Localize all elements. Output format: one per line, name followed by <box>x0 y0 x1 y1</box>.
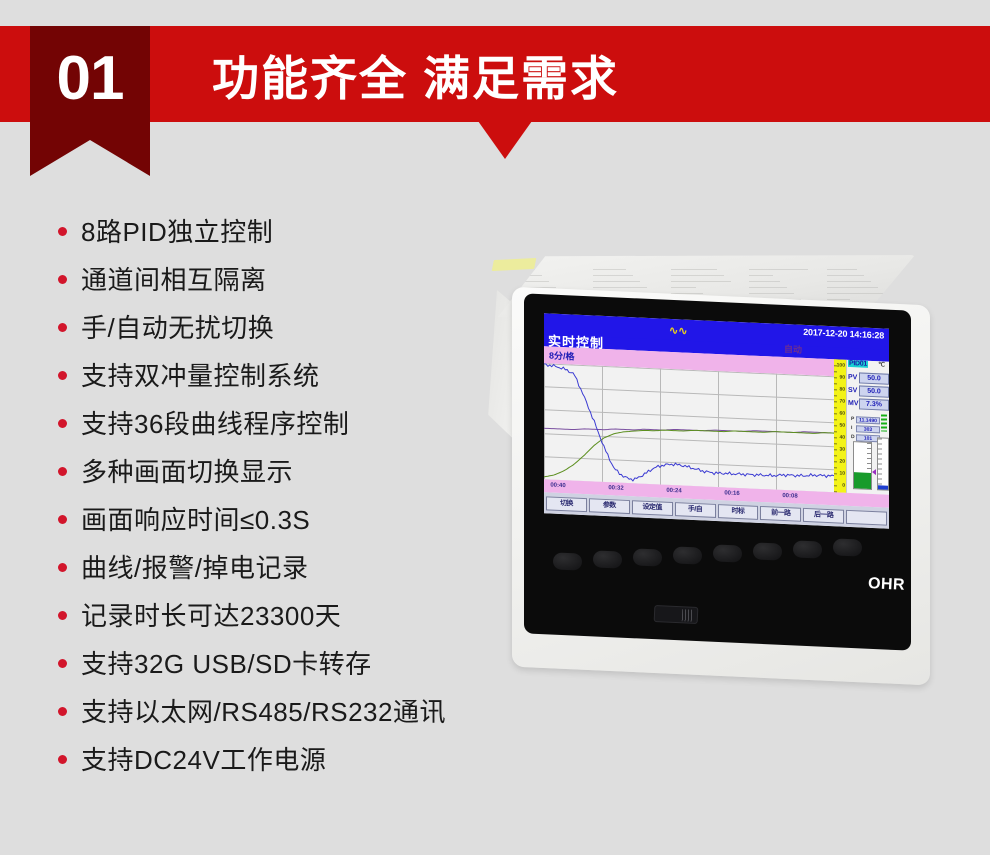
chart-gridlines <box>544 363 834 492</box>
list-item: 多种画面切换显示 <box>58 452 498 500</box>
y-axis-tick-mark <box>834 449 837 450</box>
list-item: 支持双冲量控制系统 <box>58 356 498 404</box>
list-item: 8路PID独立控制 <box>58 212 498 260</box>
pid-p-value: 11.1490 <box>856 416 880 424</box>
bullet-icon <box>58 755 67 764</box>
list-item: 支持36段曲线程序控制 <box>58 404 498 452</box>
y-axis-tick-mark <box>834 371 837 372</box>
y-axis-tick-label: 50 <box>839 423 845 428</box>
channel-mv-row: MV 7.3% <box>848 397 889 411</box>
sv-key: SV <box>848 386 859 393</box>
feature-label: 通道间相互隔离 <box>81 260 267 297</box>
bullet-icon <box>58 323 67 332</box>
y-axis-tick-mark <box>834 455 837 456</box>
y-axis-tick-mark <box>834 443 837 444</box>
feature-label: 记录时长可达23300天 <box>81 596 341 633</box>
header-banner-notch <box>478 121 532 159</box>
softkey-manual-auto[interactable]: 手/自 <box>675 502 716 518</box>
trend-chart[interactable] <box>544 363 834 492</box>
mv-bar-fill <box>854 472 871 489</box>
pv-value: 50.0 <box>859 372 889 384</box>
feature-label: 多种画面切换显示 <box>81 452 293 489</box>
y-axis-tick-mark <box>834 377 837 378</box>
hard-key-8[interactable] <box>833 538 863 556</box>
y-axis-tick-mark <box>834 395 837 396</box>
hard-key-4[interactable] <box>673 546 703 564</box>
time-axis-tick-label: 00:40 <box>550 483 565 490</box>
y-axis-tick-mark <box>834 425 837 426</box>
bullet-icon <box>58 227 67 236</box>
feature-label: 支持DC24V工作电源 <box>81 740 326 777</box>
page-title: 功能齐全 满足需求 <box>212 40 619 109</box>
y-axis-tick-mark <box>834 389 837 390</box>
output-bar-ticks <box>878 438 882 489</box>
device-lcd-screen[interactable]: 2017-12-20 14:16:28 ∿∿ 实时控制 8分/格 自动 1009… <box>544 313 889 529</box>
y-axis-tick-label: 10 <box>839 471 845 476</box>
feature-list: 8路PID独立控制 通道间相互隔离 手/自动无扰切换 支持双冲量控制系统 支持3… <box>58 212 498 788</box>
time-axis-tick-label: 00:16 <box>724 490 739 497</box>
y-axis-tick-mark <box>834 431 837 432</box>
feature-label: 支持双冲量控制系统 <box>81 356 320 393</box>
y-axis-tick-mark <box>834 365 837 366</box>
y-axis-tick-mark <box>834 407 837 408</box>
pid-i-value: 303 <box>856 425 880 433</box>
chart-line-pv <box>544 364 834 490</box>
bullet-icon <box>58 611 67 620</box>
y-axis-tick-label: 30 <box>839 447 845 452</box>
feature-label: 手/自动无扰切换 <box>81 308 274 345</box>
time-axis-tick-label: 00:32 <box>608 485 623 492</box>
mv-value: 7.3% <box>859 398 889 410</box>
list-item: 支持DC24V工作电源 <box>58 740 498 788</box>
brand-logo: OHR <box>868 575 906 595</box>
bullet-icon <box>58 467 67 476</box>
pid-i-row: I 303 <box>851 424 880 433</box>
y-axis-tick-label: 70 <box>839 399 845 404</box>
list-item: 支持32G USB/SD卡转存 <box>58 644 498 692</box>
status-led-stack <box>881 414 887 431</box>
hard-key-3[interactable] <box>633 548 663 566</box>
y-axis-tick-mark <box>834 485 837 486</box>
y-axis-tick-label: 80 <box>839 387 845 392</box>
channel-unit-label: ℃ <box>878 361 885 368</box>
output-bar-gauge <box>877 437 889 491</box>
feature-label: 支持36段曲线程序控制 <box>81 404 349 441</box>
time-axis-tick-label: 00:08 <box>782 493 797 500</box>
wave-icon: ∿∿ <box>669 326 687 338</box>
hard-key-6[interactable] <box>753 542 783 560</box>
list-item: 画面响应时间≤0.3S <box>58 500 498 548</box>
time-axis-tick-label: 00:24 <box>666 488 681 495</box>
channel-sv-row: SV 50.0 <box>848 384 889 398</box>
bullet-icon <box>58 515 67 524</box>
y-axis-tick-label: 60 <box>839 411 845 416</box>
ir-sensor-port <box>654 605 699 624</box>
device-top-sticker <box>492 258 537 271</box>
softkey-params[interactable]: 参数 <box>589 498 630 514</box>
output-bar-fill <box>878 485 888 490</box>
softkey-timestamp[interactable]: 时标 <box>718 504 759 520</box>
y-axis-tick-mark <box>834 479 837 480</box>
y-axis-tick-label: 20 <box>839 459 845 464</box>
mv-bar-gauge <box>853 441 872 490</box>
y-axis-tick-mark <box>834 467 837 468</box>
mv-bar-setpoint-marker <box>872 469 876 475</box>
list-item: 通道间相互隔离 <box>58 260 498 308</box>
bullet-icon <box>58 707 67 716</box>
list-item: 手/自动无扰切换 <box>58 308 498 356</box>
hard-key-7[interactable] <box>793 540 823 558</box>
list-item: 记录时长可达23300天 <box>58 596 498 644</box>
channel-name-badge: PID01 <box>848 360 868 368</box>
chart-line-mv <box>544 420 834 490</box>
section-number: 01 <box>30 26 150 131</box>
y-axis-tick-mark <box>834 413 837 414</box>
bullet-icon <box>58 275 67 284</box>
sv-value: 50.0 <box>859 385 889 397</box>
channel-pv-row: PV 50.0 <box>848 371 889 385</box>
lcd-timebase-label: 8分/格 <box>549 348 575 362</box>
y-axis-tick-mark <box>834 419 837 420</box>
y-axis-tick-label: 0 <box>842 483 845 488</box>
hard-key-5[interactable] <box>713 544 743 562</box>
bullet-icon <box>58 563 67 572</box>
feature-label: 支持32G USB/SD卡转存 <box>81 644 372 681</box>
pv-key: PV <box>848 373 859 380</box>
bullet-icon <box>58 371 67 380</box>
y-axis-tick-mark <box>834 401 837 402</box>
feature-label: 8路PID独立控制 <box>81 212 273 249</box>
y-axis-tick-label: 40 <box>839 435 845 440</box>
bullet-icon <box>58 419 67 428</box>
hard-key-2[interactable] <box>593 550 623 568</box>
y-axis-tick-mark <box>834 383 837 384</box>
y-axis-tick-mark <box>834 461 837 462</box>
lcd-y-axis-scale: 1009080706050403020100 <box>834 359 846 493</box>
feature-label: 支持以太网/RS485/RS232通讯 <box>81 692 446 729</box>
y-axis-tick-label: 90 <box>839 375 845 380</box>
mv-key: MV <box>848 399 859 406</box>
softkey-blank[interactable] <box>846 509 887 525</box>
softkey-prev-channel[interactable]: 前一路 <box>760 505 801 521</box>
list-item: 曲线/报警/掉电记录 <box>58 548 498 596</box>
hard-key-1[interactable] <box>553 552 583 570</box>
feature-label: 画面响应时间≤0.3S <box>81 500 310 537</box>
paperless-recorder-device: 2017-12-20 14:16:28 ∿∿ 实时控制 8分/格 自动 1009… <box>485 250 955 670</box>
lcd-channel-panel: PID01 ℃ PV 50.0 SV 50.0 MV 7.3% P 11.149… <box>846 360 889 495</box>
lcd-screen-title: 实时控制 <box>548 330 604 352</box>
lcd-mode-label: 自动 <box>784 342 802 356</box>
trend-chart-svg <box>544 363 834 492</box>
bullet-icon <box>58 659 67 668</box>
y-axis-tick-label: 100 <box>837 363 845 368</box>
softkey-switch[interactable]: 切换 <box>546 496 587 512</box>
softkey-setpoint[interactable]: 设定值 <box>632 500 673 516</box>
pid-p-row: P 11.1490 <box>851 415 880 424</box>
feature-label: 曲线/报警/掉电记录 <box>81 548 308 585</box>
list-item: 支持以太网/RS485/RS232通讯 <box>58 692 498 740</box>
softkey-next-channel[interactable]: 后一路 <box>803 507 844 523</box>
y-axis-tick-mark <box>834 437 837 438</box>
y-axis-tick-mark <box>834 473 837 474</box>
